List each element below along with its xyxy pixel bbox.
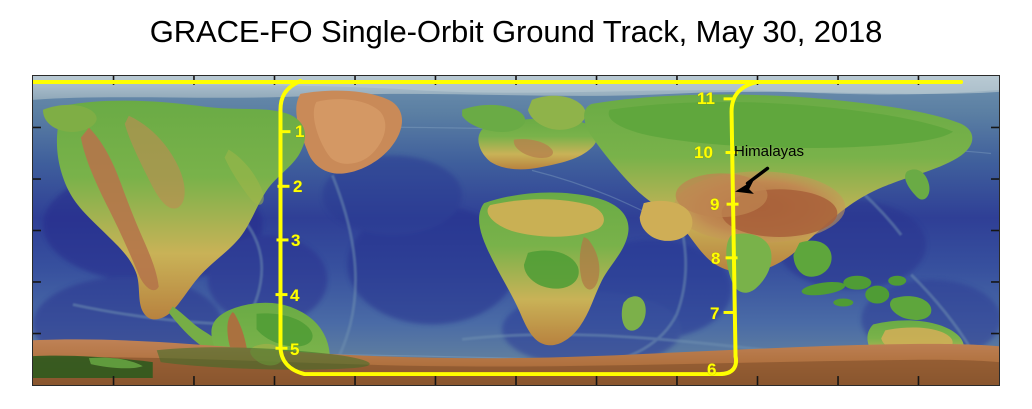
marker-label-3: 3	[291, 232, 300, 249]
himalayas-label: Himalayas	[734, 144, 804, 159]
marker-label-9: 9	[710, 196, 719, 213]
page-title: GRACE-FO Single-Orbit Ground Track, May …	[0, 14, 1032, 50]
marker-label-8: 8	[711, 250, 720, 267]
world-topographic-map-image	[33, 76, 999, 385]
marker-label-6: 6	[707, 361, 716, 378]
marker-label-11: 11	[697, 90, 715, 107]
marker-label-5: 5	[290, 341, 299, 358]
figure-container: GRACE-FO Single-Orbit Ground Track, May …	[0, 0, 1032, 409]
world-map-panel[interactable]: 1 2 3 4 5 6 7 8 9 10 11 Himalayas	[32, 75, 1000, 386]
marker-label-7: 7	[710, 305, 719, 322]
marker-label-1: 1	[295, 123, 304, 140]
marker-label-4: 4	[290, 287, 299, 304]
marker-label-10: 10	[694, 144, 713, 161]
marker-label-2: 2	[293, 178, 302, 195]
